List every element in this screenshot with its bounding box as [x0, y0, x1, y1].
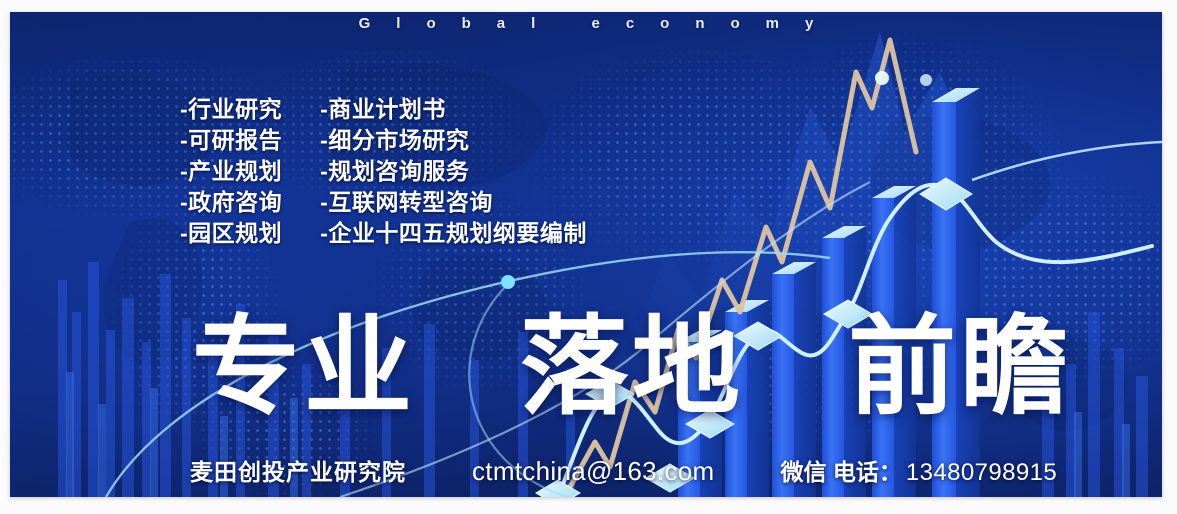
service-lists: -行业研究 -可研报告 -产业规划 -政府咨询 -园区规划 -商业计划书 -细分…	[180, 94, 587, 249]
orbit-node-dot	[501, 275, 515, 289]
wechat-label: 微信 电话：	[780, 453, 901, 487]
banner-screenshot: Global economy -行业研究 -可研报告 -产业规划 -政府咨询 -…	[0, 0, 1177, 514]
service-item: -园区规划	[180, 218, 282, 249]
service-item: -政府咨询	[180, 187, 282, 218]
service-item: -规划咨询服务	[320, 156, 587, 187]
service-item: -商业计划书	[320, 94, 587, 125]
promo-banner: Global economy -行业研究 -可研报告 -产业规划 -政府咨询 -…	[10, 12, 1162, 497]
service-column-right: -商业计划书 -细分市场研究 -规划咨询服务 -互联网转型咨询 -企业十四五规划…	[320, 94, 587, 249]
email-address: ctmtchina@163.com	[472, 456, 714, 487]
service-item: -行业研究	[180, 94, 282, 125]
headline: 专业 落地 前瞻	[192, 308, 1072, 426]
kicker-global-economy: Global economy	[10, 12, 1162, 36]
headline-part: 前瞻	[848, 306, 1072, 427]
footer-contact-row: 麦田创投产业研究院 ctmtchina@163.com 微信 电话： 13480…	[190, 453, 1057, 487]
orbit-arc-top-right	[972, 142, 1162, 180]
headline-part: 专业	[192, 306, 416, 427]
headline-part: 落地	[520, 306, 744, 427]
service-item: -企业十四五规划纲要编制	[320, 218, 587, 249]
service-column-left: -行业研究 -可研报告 -产业规划 -政府咨询 -园区规划	[180, 94, 282, 249]
company-name: 麦田创投产业研究院	[190, 453, 406, 487]
service-item: -细分市场研究	[320, 125, 587, 156]
service-item: -互联网转型咨询	[320, 187, 587, 218]
phone-number: 13480798915	[906, 459, 1057, 487]
service-item: -产业规划	[180, 156, 282, 187]
service-item: -可研报告	[180, 125, 282, 156]
